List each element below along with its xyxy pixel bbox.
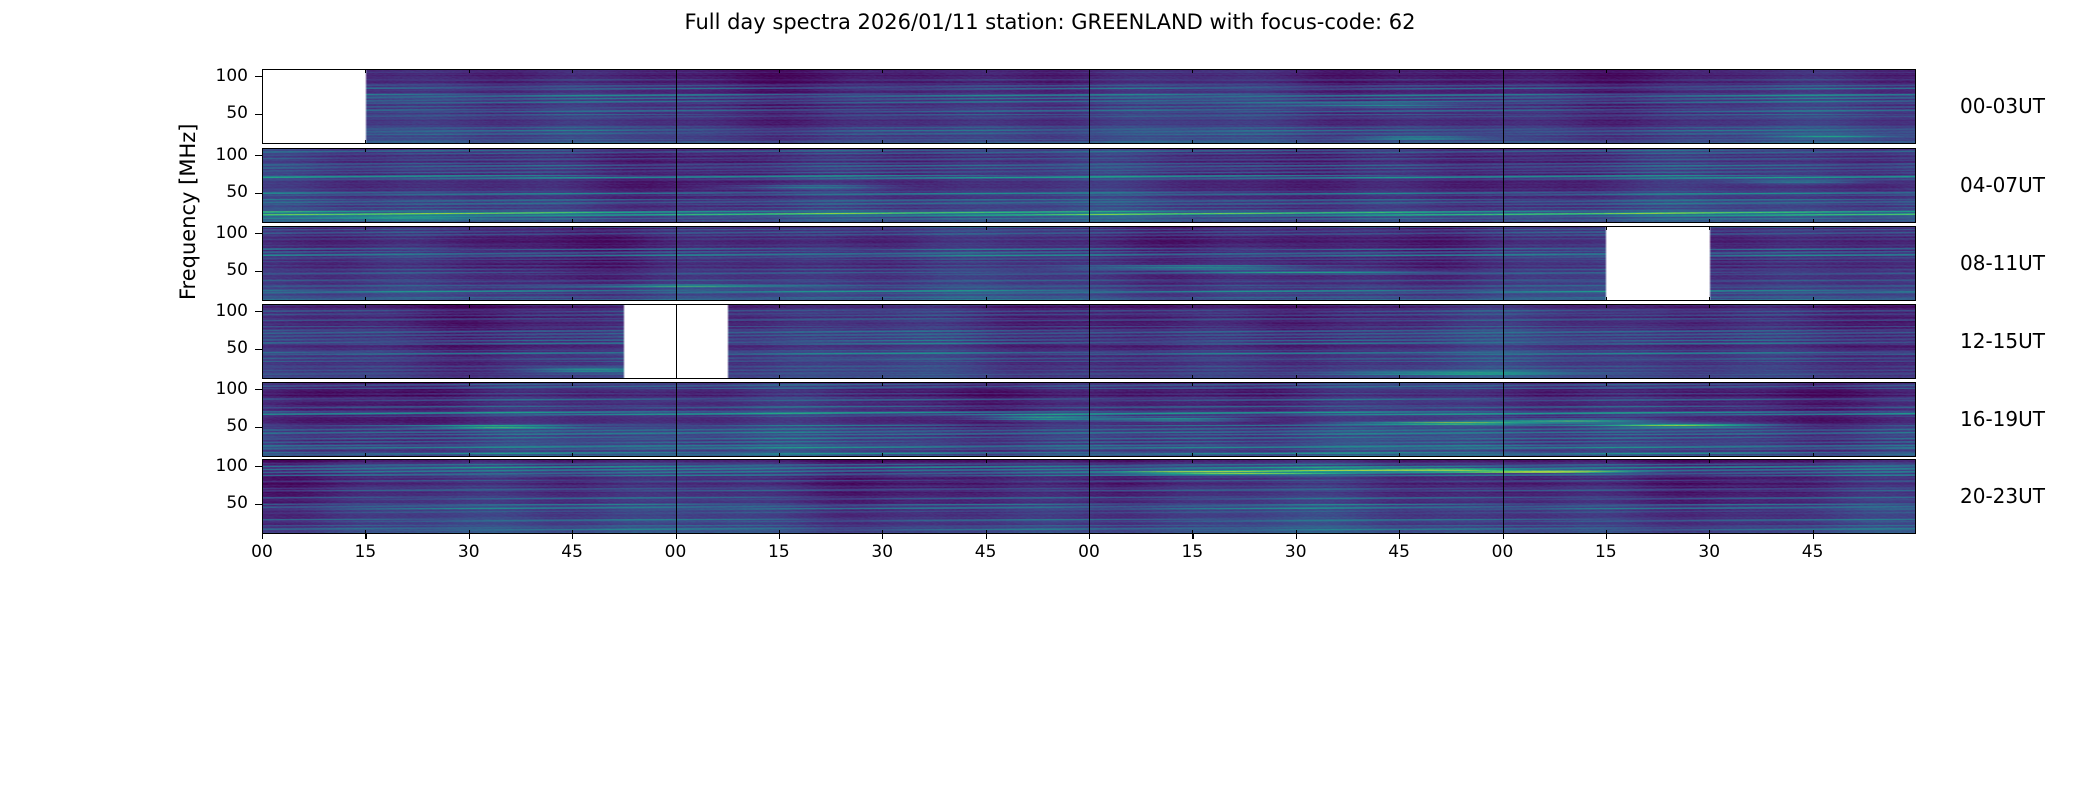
subpanel-divider-tick — [1813, 140, 1814, 144]
x-tick-mark — [1606, 534, 1607, 539]
subpanel-divider — [676, 148, 677, 223]
subpanel-divider-tick — [986, 453, 987, 457]
spectrogram-row-04-07ut: 10050 — [262, 148, 1916, 223]
subpanel-divider-tick — [572, 453, 573, 457]
subpanel-divider-tick — [1813, 382, 1814, 386]
subpanel-divider-tick — [882, 375, 883, 379]
x-tick-mark — [572, 534, 573, 539]
page-title: Full day spectra 2026/01/11 station: GRE… — [0, 10, 2100, 34]
y-tick-label: 100 — [200, 303, 248, 320]
subpanel-divider-tick — [1296, 148, 1297, 152]
subpanel-divider-tick — [469, 453, 470, 457]
spectrogram-row-00-03ut: 10050 — [262, 69, 1916, 144]
x-tick-mark — [779, 534, 780, 539]
subpanel-divider — [1089, 459, 1090, 534]
y-tick-mark — [255, 233, 262, 234]
subpanel-divider-tick — [1709, 140, 1710, 144]
y-tick-label: 100 — [200, 68, 248, 85]
y-tick-label: 100 — [200, 147, 248, 164]
subpanel-divider-tick — [986, 375, 987, 379]
subpanel-divider-tick — [779, 226, 780, 230]
subpanel-divider — [1089, 148, 1090, 223]
x-tick-mark — [676, 534, 677, 539]
y-tick-mark — [255, 76, 262, 77]
subpanel-divider-tick — [882, 226, 883, 230]
subpanel-divider-tick — [469, 382, 470, 386]
y-tick-label: 100 — [200, 225, 248, 242]
subpanel-divider — [676, 382, 677, 457]
subpanel-divider-tick — [1709, 382, 1710, 386]
subpanel-divider-tick — [779, 304, 780, 308]
subpanel-divider-tick — [986, 226, 987, 230]
y-tick-mark — [255, 427, 262, 428]
subpanel-divider-tick — [469, 304, 470, 308]
subpanel-divider-tick — [1813, 148, 1814, 152]
subpanel-divider-tick — [469, 375, 470, 379]
subpanel-divider-tick — [1606, 375, 1607, 379]
subpanel-divider-tick — [365, 219, 366, 223]
y-tick-mark — [255, 155, 262, 156]
subpanel-divider-tick — [1192, 459, 1193, 463]
subpanel-divider-tick — [1192, 375, 1193, 379]
row-label-20-23ut: 20-23UT — [1960, 486, 2045, 506]
subpanel-divider-tick — [1606, 382, 1607, 386]
subpanel-divider-tick — [1813, 69, 1814, 73]
subpanel-divider-tick — [882, 453, 883, 457]
subpanel-divider-tick — [779, 459, 780, 463]
subpanel-divider — [1503, 459, 1504, 534]
subpanel-divider — [1503, 382, 1504, 457]
subpanel-divider-tick — [365, 453, 366, 457]
subpanel-divider-tick — [1606, 148, 1607, 152]
subpanel-divider-tick — [1296, 226, 1297, 230]
subpanel-divider-tick — [779, 219, 780, 223]
subpanel-divider — [676, 304, 677, 379]
subpanel-divider-tick — [572, 69, 573, 73]
x-tick-mark — [1709, 534, 1710, 539]
y-tick-mark — [255, 504, 262, 505]
subpanel-divider — [676, 459, 677, 534]
subpanel-divider-tick — [1399, 453, 1400, 457]
spectrogram-row-20-23ut: 10050 — [262, 459, 1916, 534]
row-label-08-11ut: 08-11UT — [1960, 253, 2045, 273]
subpanel-divider-tick — [572, 375, 573, 379]
subpanel-divider-tick — [365, 304, 366, 308]
subpanel-divider-tick — [1606, 69, 1607, 73]
subpanel-divider-tick — [986, 219, 987, 223]
subpanel-divider-tick — [469, 69, 470, 73]
subpanel-divider-tick — [1192, 382, 1193, 386]
subpanel-divider-tick — [882, 382, 883, 386]
x-tick-label: 00 — [1473, 544, 1533, 561]
subpanel-divider-tick — [1192, 69, 1193, 73]
spectrogram-row-16-19ut: 10050 — [262, 382, 1916, 457]
subpanel-divider-tick — [572, 148, 573, 152]
subpanel-divider-tick — [779, 297, 780, 301]
subpanel-divider-tick — [882, 69, 883, 73]
subpanel-divider-tick — [1296, 459, 1297, 463]
x-tick-mark — [1296, 534, 1297, 539]
y-tick-mark — [255, 466, 262, 467]
subpanel-divider-tick — [1606, 219, 1607, 223]
y-tick-label: 100 — [200, 381, 248, 398]
subpanel-divider-tick — [1296, 297, 1297, 301]
x-tick-mark — [1192, 534, 1193, 539]
spectrogram-figure: Full day spectra 2026/01/11 station: GRE… — [0, 0, 2100, 800]
subpanel-divider-tick — [469, 140, 470, 144]
subpanel-divider-tick — [1709, 297, 1710, 301]
subpanel-divider-tick — [1606, 140, 1607, 144]
subpanel-divider — [676, 69, 677, 144]
x-tick-label: 30 — [439, 544, 499, 561]
subpanel-divider-tick — [1606, 304, 1607, 308]
x-tick-mark — [469, 534, 470, 539]
subpanel-divider-tick — [986, 69, 987, 73]
subpanel-divider-tick — [1399, 375, 1400, 379]
subpanel-divider-tick — [1709, 226, 1710, 230]
y-tick-label: 50 — [200, 495, 248, 512]
subpanel-divider-tick — [1709, 219, 1710, 223]
subpanel-divider-tick — [1709, 453, 1710, 457]
x-tick-label: 00 — [646, 544, 706, 561]
subpanel-divider-tick — [1813, 375, 1814, 379]
subpanel-divider — [1503, 304, 1504, 379]
subpanel-divider-tick — [1709, 375, 1710, 379]
subpanel-divider-tick — [1606, 297, 1607, 301]
subpanel-divider-tick — [1296, 140, 1297, 144]
subpanel-divider-tick — [365, 140, 366, 144]
subpanel-divider-tick — [365, 382, 366, 386]
subpanel-divider-tick — [1399, 297, 1400, 301]
subpanel-divider-tick — [1192, 140, 1193, 144]
subpanel-divider-tick — [986, 459, 987, 463]
subpanel-divider-tick — [572, 382, 573, 386]
spectrogram-row-08-11ut: 10050 — [262, 226, 1916, 301]
subpanel-divider — [1089, 69, 1090, 144]
subpanel-divider-tick — [1192, 453, 1193, 457]
row-label-16-19ut: 16-19UT — [1960, 409, 2045, 429]
subpanel-divider-tick — [1813, 304, 1814, 308]
subpanel-divider-tick — [1813, 453, 1814, 457]
subpanel-divider-tick — [1709, 304, 1710, 308]
subpanel-divider-tick — [1296, 69, 1297, 73]
x-tick-label: 30 — [1266, 544, 1326, 561]
row-label-12-15ut: 12-15UT — [1960, 331, 2045, 351]
y-tick-label: 100 — [200, 458, 248, 475]
subpanel-divider-tick — [572, 297, 573, 301]
subpanel-divider-tick — [779, 453, 780, 457]
subpanel-divider-tick — [882, 219, 883, 223]
subpanel-divider-tick — [1813, 219, 1814, 223]
y-tick-mark — [255, 271, 262, 272]
x-tick-mark — [1503, 534, 1504, 539]
x-tick-mark — [262, 534, 263, 539]
x-tick-label: 30 — [852, 544, 912, 561]
subpanel-divider-tick — [1813, 226, 1814, 230]
y-tick-mark — [255, 311, 262, 312]
subpanel-divider-tick — [1606, 453, 1607, 457]
subpanel-divider-tick — [365, 69, 366, 73]
subpanel-divider-tick — [469, 148, 470, 152]
x-tick-mark — [1089, 534, 1090, 539]
subpanel-divider-tick — [882, 140, 883, 144]
x-tick-label: 15 — [335, 544, 395, 561]
subpanel-divider-tick — [986, 304, 987, 308]
subpanel-divider-tick — [469, 219, 470, 223]
subpanel-divider-tick — [1192, 297, 1193, 301]
subpanel-divider-tick — [572, 304, 573, 308]
spectrogram-row-12-15ut: 10050 — [262, 304, 1916, 379]
subpanel-divider-tick — [572, 140, 573, 144]
subpanel-divider-tick — [469, 226, 470, 230]
x-tick-label: 45 — [956, 544, 1016, 561]
subpanel-divider-tick — [365, 375, 366, 379]
y-tick-label: 50 — [200, 184, 248, 201]
subpanel-divider-tick — [1399, 304, 1400, 308]
subpanel-divider-tick — [1399, 219, 1400, 223]
x-tick-mark — [1813, 534, 1814, 539]
subpanel-divider-tick — [779, 140, 780, 144]
subpanel-divider-tick — [1192, 226, 1193, 230]
subpanel-divider-tick — [1399, 226, 1400, 230]
y-tick-mark — [255, 389, 262, 390]
x-tick-label: 30 — [1679, 544, 1739, 561]
subpanel-divider-tick — [1709, 69, 1710, 73]
x-tick-label: 15 — [1576, 544, 1636, 561]
subpanel-divider — [1503, 69, 1504, 144]
x-tick-label: 45 — [1369, 544, 1429, 561]
x-tick-label: 00 — [232, 544, 292, 561]
subpanel-divider-tick — [572, 219, 573, 223]
subpanel-divider-tick — [1606, 459, 1607, 463]
subpanel-divider-tick — [1192, 304, 1193, 308]
subpanel-divider-tick — [1192, 148, 1193, 152]
y-tick-label: 50 — [200, 105, 248, 122]
subpanel-divider-tick — [1296, 453, 1297, 457]
subpanel-divider-tick — [882, 459, 883, 463]
subpanel-divider-tick — [365, 459, 366, 463]
subpanel-divider-tick — [986, 148, 987, 152]
y-tick-label: 50 — [200, 262, 248, 279]
subpanel-divider-tick — [779, 375, 780, 379]
subpanel-divider-tick — [365, 297, 366, 301]
x-tick-label: 15 — [1162, 544, 1222, 561]
subpanel-divider-tick — [572, 459, 573, 463]
subpanel-divider — [1503, 226, 1504, 301]
subpanel-divider-tick — [779, 382, 780, 386]
subpanel-divider — [1089, 382, 1090, 457]
subpanel-divider-tick — [1192, 219, 1193, 223]
subpanel-divider-tick — [1296, 375, 1297, 379]
subpanel-divider-tick — [779, 148, 780, 152]
subpanel-divider-tick — [779, 69, 780, 73]
subpanel-divider — [1503, 148, 1504, 223]
subpanel-divider-tick — [986, 382, 987, 386]
x-tick-label: 00 — [1059, 544, 1119, 561]
subpanel-divider-tick — [1813, 297, 1814, 301]
x-tick-mark — [365, 534, 366, 539]
subpanel-divider-tick — [882, 148, 883, 152]
subpanel-divider-tick — [1606, 226, 1607, 230]
subpanel-divider-tick — [1399, 69, 1400, 73]
subpanel-divider-tick — [365, 148, 366, 152]
subpanel-divider-tick — [1399, 148, 1400, 152]
subpanel-divider — [1089, 226, 1090, 301]
y-tick-mark — [255, 349, 262, 350]
y-axis-label: Frequency [MHz] — [176, 124, 200, 300]
subpanel-divider — [676, 226, 677, 301]
x-tick-label: 45 — [542, 544, 602, 561]
row-label-04-07ut: 04-07UT — [1960, 175, 2045, 195]
subpanel-divider-tick — [1813, 459, 1814, 463]
subpanel-divider-tick — [1709, 459, 1710, 463]
subpanel-divider-tick — [882, 304, 883, 308]
subpanel-divider-tick — [1399, 140, 1400, 144]
subpanel-divider-tick — [986, 297, 987, 301]
x-tick-mark — [882, 534, 883, 539]
y-tick-mark — [255, 114, 262, 115]
x-tick-label: 45 — [1783, 544, 1843, 561]
subpanel-divider-tick — [1399, 382, 1400, 386]
subpanel-divider — [1089, 304, 1090, 379]
subpanel-divider-tick — [469, 297, 470, 301]
y-tick-mark — [255, 193, 262, 194]
x-tick-label: 15 — [749, 544, 809, 561]
subpanel-divider-tick — [1296, 382, 1297, 386]
x-tick-mark — [986, 534, 987, 539]
y-tick-label: 50 — [200, 340, 248, 357]
subpanel-divider-tick — [986, 140, 987, 144]
row-label-00-03ut: 00-03UT — [1960, 96, 2045, 116]
subpanel-divider-tick — [469, 459, 470, 463]
subpanel-divider-tick — [572, 226, 573, 230]
subpanel-divider-tick — [882, 297, 883, 301]
subpanel-divider-tick — [1709, 148, 1710, 152]
subpanel-divider-tick — [1296, 304, 1297, 308]
x-tick-mark — [1399, 534, 1400, 539]
subpanel-divider-tick — [365, 226, 366, 230]
subpanel-divider-tick — [1399, 459, 1400, 463]
y-tick-label: 50 — [200, 418, 248, 435]
subpanel-divider-tick — [1296, 219, 1297, 223]
